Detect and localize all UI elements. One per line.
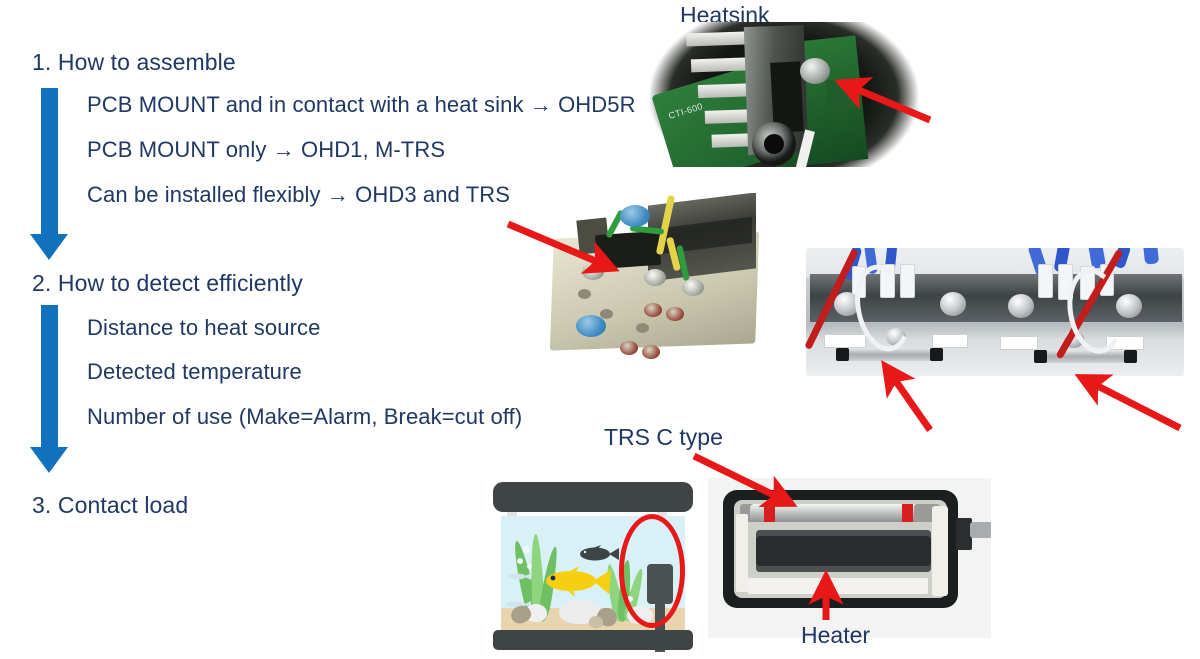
panel-label-1 — [824, 334, 866, 348]
aquarium-hood — [493, 482, 693, 512]
transformer-hole-3 — [636, 323, 649, 333]
aquarium-rock-6 — [589, 616, 603, 628]
aquarium-bubble-3 — [527, 564, 532, 569]
heater-element — [748, 578, 928, 594]
transformer-red-terminal-4 — [642, 345, 660, 359]
heater-finned-slot — [756, 530, 931, 572]
transformer-hole-1 — [578, 289, 591, 299]
transformer-red-terminal-1 — [644, 303, 662, 317]
heatsink-green-chip — [826, 80, 848, 110]
transformer-blue-capacitor-2 — [576, 315, 606, 337]
transformer-photo — [540, 193, 775, 365]
heatsink-screw — [800, 58, 830, 84]
section-1-bullet-3: Can be installed flexibly → OHD3 and TRS — [87, 182, 510, 208]
heater-insulator-left — [736, 514, 748, 592]
heatsink-power-jack — [752, 122, 796, 166]
panel-temperature-sensor-2 — [1038, 350, 1134, 363]
heater-red-band-left — [764, 504, 775, 522]
transformer-red-terminal-3 — [620, 341, 638, 355]
aquarium-base — [493, 630, 693, 650]
section-3-heading: 3. Contact load — [32, 492, 188, 519]
transformer-black-block — [595, 231, 661, 269]
heater-red-band-right — [902, 504, 913, 522]
aquarium-heater-highlight-ellipse — [619, 514, 685, 628]
section-2-heading: 2. How to detect efficiently — [32, 270, 303, 297]
heater-insulator-right — [932, 506, 948, 596]
heater-cable — [970, 522, 991, 538]
aquarium-bubble-2 — [517, 558, 523, 564]
slide-canvas: 1. How to assemble PCB MOUNT and in cont… — [0, 0, 1200, 659]
aquarium-small-fish-3 — [507, 572, 531, 581]
section-1-heading: 1. How to assemble — [32, 49, 236, 76]
section-2-bullet-3: Number of use (Make=Alarm, Break=cut off… — [87, 404, 522, 430]
heater-case — [723, 490, 958, 608]
panel-terminal-4 — [1038, 264, 1053, 298]
aquarium-bubble-1 — [523, 546, 530, 553]
heater-interior — [734, 500, 947, 598]
transformer-terminal-2 — [644, 269, 666, 286]
panel-label-3 — [1000, 336, 1038, 350]
transformer-blue-capacitor-1 — [620, 205, 650, 227]
section-1-bullet-2: PCB MOUNT only → OHD1, M-TRS — [87, 137, 445, 163]
heater-label: Heater — [801, 622, 870, 649]
section-1-bullet-1: PCB MOUNT and in contact with a heat sin… — [87, 92, 636, 118]
transformer-terminal-1 — [582, 263, 604, 280]
transformer-terminal-3 — [682, 279, 704, 296]
heatsink-photo: CTI-600 — [650, 22, 918, 167]
panel-label-2 — [932, 334, 968, 348]
heater-trs-sensor-rod — [750, 504, 920, 522]
blue-down-arrow-1 — [30, 88, 69, 260]
panel-blue-wire-8 — [1143, 248, 1159, 265]
transformer-hole-2 — [600, 309, 613, 319]
section-2-bullet-1: Distance to heat source — [87, 315, 320, 341]
panel-screw-3 — [1008, 294, 1034, 318]
panel-screw-2 — [940, 292, 966, 316]
heater-photo — [708, 478, 991, 638]
section-2-bullet-2: Detected temperature — [87, 359, 302, 385]
trs-c-type-label: TRS C type — [604, 424, 723, 451]
aquarium-yellow-fish — [545, 566, 611, 598]
blue-down-arrow-2 — [30, 305, 69, 473]
transformer-red-terminal-2 — [666, 307, 684, 321]
aquarium-illustration — [487, 480, 699, 652]
control-panel-photo — [800, 248, 1190, 390]
aquarium-black-fish — [579, 544, 619, 564]
